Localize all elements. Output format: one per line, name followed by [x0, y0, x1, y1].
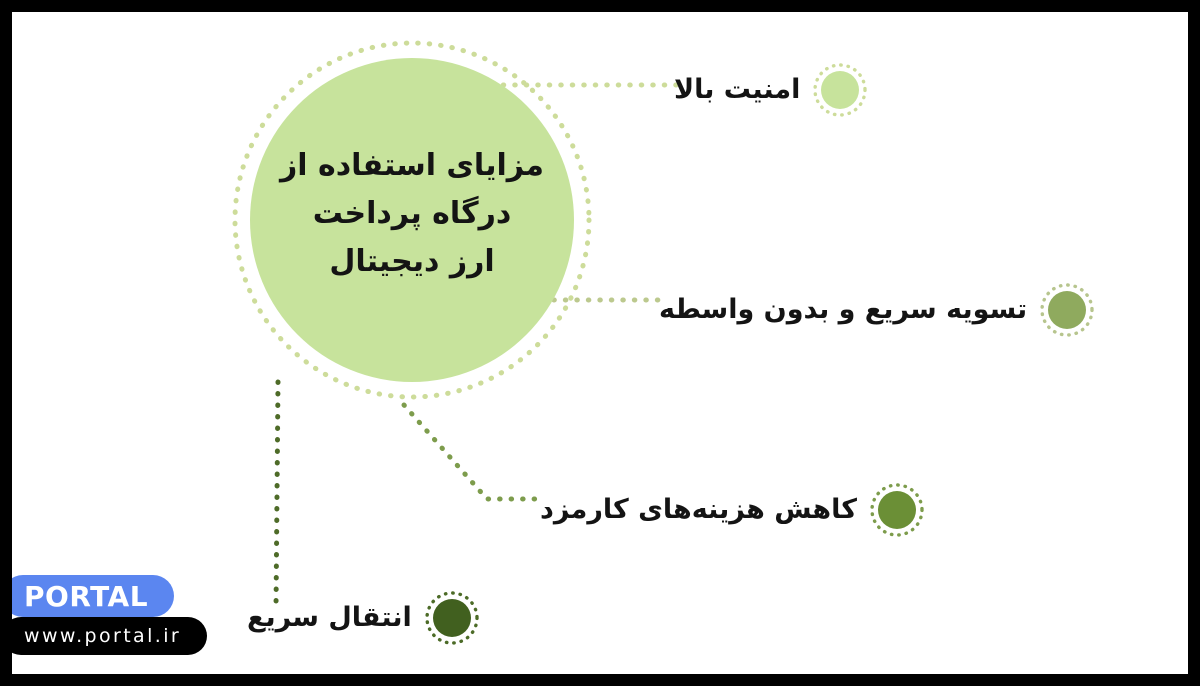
- connector-4: [276, 382, 278, 608]
- node-core-circle: [1048, 291, 1086, 329]
- infographic-stage: مزایای استفاده از درگاه پرداخت ارز دیجیت…: [12, 12, 1188, 674]
- node-label-3: کاهش هزینه‌های کارمزد: [540, 493, 857, 527]
- watermark-brand-text: PORTAL: [24, 580, 148, 613]
- benefit-node-fast-settlement[interactable]: تسویه سریع و بدون واسطه: [659, 282, 1095, 338]
- node-label-4: انتقال سریع: [247, 601, 412, 635]
- benefit-node-fast-transfer[interactable]: انتقال سریع: [247, 590, 480, 646]
- hub-title-line-3: ارز دیجیتال: [252, 238, 572, 286]
- watermark-brand-badge: PORTAL: [12, 575, 174, 617]
- node-dot-3: [869, 482, 925, 538]
- node-dot-2: [1039, 282, 1095, 338]
- node-core-circle: [878, 491, 916, 529]
- node-label-1: امنیت بالا: [674, 73, 800, 107]
- node-dot-4: [424, 590, 480, 646]
- hub-title: مزایای استفاده از درگاه پرداخت ارز دیجیت…: [252, 142, 572, 286]
- node-core-circle: [433, 599, 471, 637]
- connector-3: [404, 405, 545, 499]
- benefit-node-high-security[interactable]: امنیت بالا: [674, 62, 868, 118]
- central-hub: مزایای استفاده از درگاه پرداخت ارز دیجیت…: [222, 30, 602, 410]
- node-label-2: تسویه سریع و بدون واسطه: [659, 293, 1027, 327]
- watermark-url-badge: www.portal.ir: [12, 617, 207, 655]
- node-dot-1: [812, 62, 868, 118]
- benefit-node-lower-fees[interactable]: کاهش هزینه‌های کارمزد: [540, 482, 925, 538]
- infographic-canvas: مزایای استفاده از درگاه پرداخت ارز دیجیت…: [0, 0, 1200, 686]
- watermark-url-text: www.portal.ir: [24, 625, 181, 647]
- hub-title-line-2: درگاه پرداخت: [252, 190, 572, 238]
- hub-title-line-1: مزایای استفاده از: [252, 142, 572, 190]
